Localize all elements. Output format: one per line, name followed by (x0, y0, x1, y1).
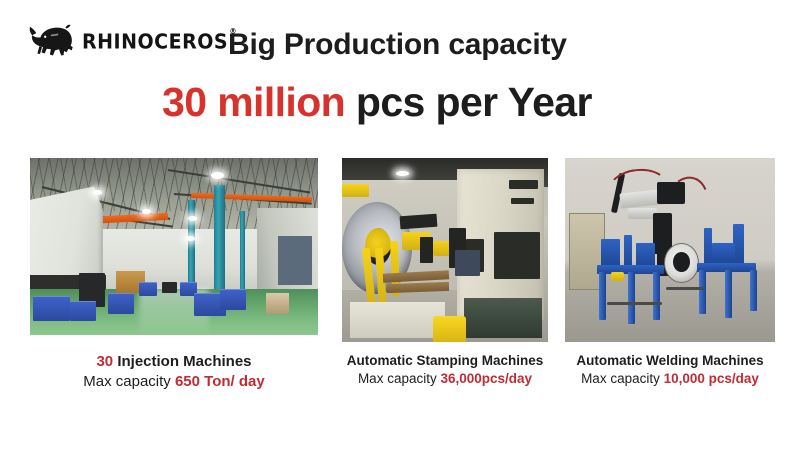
caption-line-2: Max capacity 650 Ton/ day (30, 372, 318, 392)
photo2-ceiling-light (396, 171, 409, 176)
machine-count: 30 (96, 353, 113, 370)
photo2-decoiler-guard (342, 184, 369, 197)
photo2-press-panel (509, 180, 538, 189)
rhinoceros-logo-icon (28, 21, 80, 63)
photo3-fixture (712, 243, 735, 265)
capacity-value: 10,000 pcs/day (664, 371, 759, 386)
photo1-ceiling-light (186, 236, 195, 241)
photo1-crate (139, 282, 156, 296)
photo3-stand-leg (599, 272, 606, 320)
panel-stamping-caption: Automatic Stamping Machines Max capacity… (342, 352, 548, 388)
photo1-column (214, 185, 225, 295)
photo1-sack (266, 293, 289, 314)
caption-line-2: Max capacity 36,000pcs/day (342, 370, 548, 388)
photo3-stand-leg (628, 272, 635, 324)
caption-line-1: Automatic Stamping Machines (342, 352, 548, 370)
caption-line-2: Max capacity 10,000 pcs/day (565, 370, 775, 388)
capacity-figure: 30 million (162, 79, 345, 125)
panel-welding-caption: Automatic Welding Machines Max capacity … (565, 352, 775, 388)
photo2-press-opening (494, 232, 539, 280)
panel-stamping: Automatic Stamping Machines Max capacity… (342, 158, 548, 388)
photo2-yellow-bin (433, 316, 466, 342)
capacity-label: Max capacity (83, 373, 175, 390)
machine-type: Automatic Welding Machines (576, 353, 763, 368)
photo1-column (240, 211, 245, 289)
capacity-unit: pcs per Year (345, 79, 592, 125)
panel-injection: 30 Injection Machines Max capacity 650 T… (30, 158, 318, 393)
panel-injection-caption: 30 Injection Machines Max capacity 650 T… (30, 352, 318, 393)
automatic-welding-machine-photo (565, 158, 775, 342)
photo1-control-cabinet (278, 236, 313, 286)
photo2-press-panel (511, 198, 534, 204)
photo3-stand-leg (653, 272, 660, 320)
page-subtitle: 30 million pcs per Year (162, 80, 592, 125)
photo3-floor-cable (607, 302, 662, 306)
photo3-stand-leg (725, 270, 732, 318)
capacity-value: 650 Ton/ day (175, 373, 265, 390)
machine-type: Injection Machines (113, 353, 251, 370)
capacity-label: Max capacity (581, 371, 664, 386)
photo1-crate (33, 296, 70, 321)
automatic-stamping-machine-photo (342, 158, 548, 342)
photo3-stand-leg (699, 270, 706, 314)
company-logo: RHINOCEROS® (28, 20, 204, 64)
photo1-crate (70, 301, 96, 320)
caption-line-1: Automatic Welding Machines (565, 352, 775, 370)
photo3-yellow-clamp (611, 272, 624, 281)
photo2-shaft (399, 214, 437, 229)
photo3-wire-reel-hub (673, 252, 690, 272)
capacity-value: 36,000pcs/day (440, 371, 532, 386)
photo1-equipment (162, 282, 176, 293)
photo3-floor-cable (666, 287, 704, 291)
photo3-stand-leg (750, 270, 757, 310)
machine-type: Automatic Stamping Machines (347, 353, 544, 368)
logo-wordmark: RHINOCEROS® (82, 32, 228, 53)
photo2-control-panel (455, 250, 480, 276)
logo-wordmark-text: RHINOCEROS (82, 30, 228, 54)
photo3-robot-wrist (657, 182, 684, 204)
photo1-crate (220, 289, 246, 310)
header-banner: RHINOCEROS® Big Production capacity 30 m… (0, 0, 800, 150)
photo1-column (188, 200, 195, 292)
page-title: Big Production capacity (228, 28, 567, 61)
photo2-roller (420, 237, 432, 263)
photo2-machine-base (350, 302, 445, 339)
photo2-work-table (464, 298, 542, 338)
capacity-label: Max capacity (358, 371, 441, 386)
injection-moulding-workshop-photo (30, 158, 318, 335)
capability-panels: 30 Injection Machines Max capacity 650 T… (0, 158, 800, 408)
photo3-fixture (601, 239, 620, 268)
caption-line-1: 30 Injection Machines (30, 352, 318, 372)
panel-welding: Automatic Welding Machines Max capacity … (565, 158, 775, 388)
photo1-crate (108, 293, 134, 314)
